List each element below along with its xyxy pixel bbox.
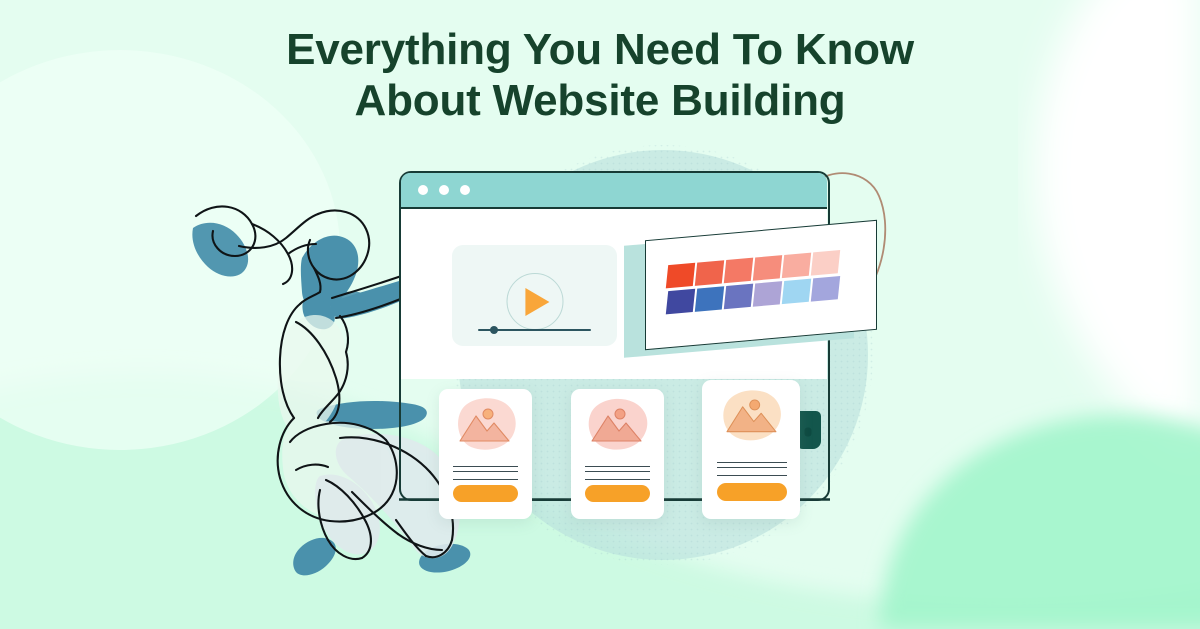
swatch[interactable]: [753, 281, 782, 307]
page-title: Everything You Need To Know About Websit…: [0, 24, 1200, 127]
text-line: [717, 462, 787, 463]
swatch[interactable]: [782, 253, 811, 279]
text-line: [453, 471, 518, 472]
swatch[interactable]: [811, 250, 840, 276]
card-text-lines: [585, 466, 650, 484]
color-swatch-grid: [667, 250, 839, 314]
swatch[interactable]: [782, 279, 811, 305]
image-placeholder-icon: [571, 389, 664, 461]
swatch[interactable]: [695, 260, 724, 286]
green-tab-glyph-icon: [805, 427, 812, 436]
swatch[interactable]: [666, 289, 695, 315]
play-triangle-icon[interactable]: [526, 288, 550, 316]
content-card-2[interactable]: [571, 389, 664, 519]
video-progress-track[interactable]: [478, 329, 591, 331]
content-card-1[interactable]: [439, 389, 532, 519]
swatch[interactable]: [724, 284, 753, 310]
text-line: [585, 479, 650, 480]
video-preview-card[interactable]: [452, 245, 617, 346]
card-text-lines: [717, 462, 787, 480]
play-button-ring[interactable]: [506, 273, 563, 330]
card-cta-button[interactable]: [717, 483, 787, 501]
swatch[interactable]: [666, 263, 695, 289]
text-line: [453, 479, 518, 480]
image-placeholder-icon: [439, 389, 532, 461]
card-cta-button[interactable]: [585, 485, 650, 502]
swatch[interactable]: [724, 258, 753, 284]
text-line: [585, 466, 650, 467]
color-palette-card[interactable]: [645, 220, 877, 350]
headline-line-2: About Website Building: [0, 75, 1200, 126]
traffic-light-dot-maximize-icon[interactable]: [460, 185, 470, 195]
text-line: [717, 475, 787, 476]
traffic-light-dot-minimize-icon[interactable]: [439, 185, 449, 195]
swatch[interactable]: [753, 255, 782, 281]
card-cta-button[interactable]: [453, 485, 518, 502]
video-progress-knob[interactable]: [490, 326, 498, 334]
card-text-lines: [453, 466, 518, 484]
swatch[interactable]: [811, 276, 840, 302]
text-line: [585, 471, 650, 472]
illustration-canvas: Everything You Need To Know About Websit…: [0, 0, 1200, 629]
browser-titlebar: [401, 173, 827, 209]
headline-line-1: Everything You Need To Know: [286, 25, 914, 74]
traffic-light-dot-close-icon[interactable]: [418, 185, 428, 195]
image-placeholder-icon: [702, 380, 800, 452]
swatch[interactable]: [695, 286, 724, 312]
content-card-3[interactable]: [702, 380, 800, 519]
text-line: [717, 467, 787, 468]
text-line: [453, 466, 518, 467]
